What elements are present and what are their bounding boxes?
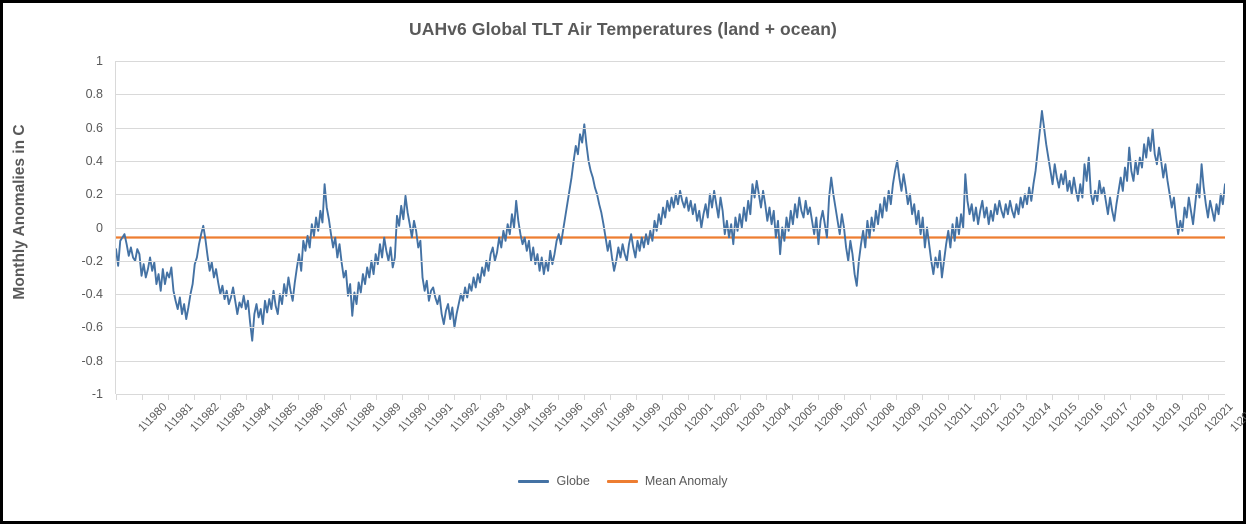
legend-label: Mean Anomaly bbox=[645, 474, 728, 488]
x-axis-tick-label: 1\1999 bbox=[630, 401, 663, 434]
x-axis-tick-label: 1\1980 bbox=[136, 401, 169, 434]
x-axis-tick-label: 1\1996 bbox=[552, 401, 585, 434]
x-axis-tick-label: 1\1994 bbox=[500, 401, 533, 434]
x-axis-tick-label: 1\2017 bbox=[1098, 401, 1131, 434]
x-axis-tick-label: 1\2015 bbox=[1046, 401, 1079, 434]
x-axis-tick-label: 1\1988 bbox=[344, 401, 377, 434]
legend-swatch bbox=[518, 480, 549, 483]
legend-swatch bbox=[607, 480, 638, 483]
x-axis-tick-label: 1\2016 bbox=[1072, 401, 1105, 434]
x-axis-tick-label: 1\1982 bbox=[188, 401, 221, 434]
x-axis-tick-label: 1\2006 bbox=[812, 401, 845, 434]
x-axis-tick-label: 1\2010 bbox=[916, 401, 949, 434]
x-axis-tick-label: 1\1995 bbox=[526, 401, 559, 434]
x-axis-tick-label: 1\1984 bbox=[240, 401, 273, 434]
x-axis-tick-label: 1\2008 bbox=[864, 401, 897, 434]
x-axis-tick-label: 1\1992 bbox=[448, 401, 481, 434]
x-axis-tick-label: 1\1983 bbox=[214, 401, 247, 434]
x-axis-tick-label: 1\1986 bbox=[292, 401, 325, 434]
x-axis-tick-label: 1\2021 bbox=[1202, 401, 1235, 434]
chart-legend: GlobeMean Anomaly bbox=[3, 474, 1243, 488]
x-axis-tick-label: 1\2003 bbox=[734, 401, 767, 434]
x-axis-tick-label: 1\2019 bbox=[1150, 401, 1183, 434]
legend-label: Globe bbox=[556, 474, 589, 488]
x-axis-tick-label: 1\1990 bbox=[396, 401, 429, 434]
x-axis-tick-label: 1\2013 bbox=[994, 401, 1027, 434]
x-axis-tick-label: 1\2018 bbox=[1124, 401, 1157, 434]
x-axis-tick-label: 1\2001 bbox=[682, 401, 715, 434]
x-axis-tick-label: 1\1989 bbox=[370, 401, 403, 434]
x-axis-tick-label: 1\2009 bbox=[890, 401, 923, 434]
x-axis-tick-label: 1\2004 bbox=[760, 401, 793, 434]
x-axis-tick-label: 1\2020 bbox=[1176, 401, 1209, 434]
x-axis-tick-label: 1\1985 bbox=[266, 401, 299, 434]
x-axis-tick-label: 1\1991 bbox=[422, 401, 455, 434]
legend-item[interactable]: Globe bbox=[518, 474, 589, 488]
x-axis-tick-label: 1\1993 bbox=[474, 401, 507, 434]
x-axis-tick-label: 1\2005 bbox=[786, 401, 819, 434]
x-axis-tick-label: 1\2000 bbox=[656, 401, 689, 434]
x-axis-tick-label: 1\1997 bbox=[578, 401, 611, 434]
x-axis-tick-label: 1\2014 bbox=[1020, 401, 1053, 434]
x-axis-tick-label: 1\2002 bbox=[708, 401, 741, 434]
chart-frame: UAHv6 Global TLT Air Temperatures (land … bbox=[0, 0, 1246, 524]
x-axis-tick-label: 1\1981 bbox=[162, 401, 195, 434]
x-axis-tick-label: 1\2007 bbox=[838, 401, 871, 434]
x-axis-tick-label: 1\1987 bbox=[318, 401, 351, 434]
x-axis-tick-labels: 1\19801\19811\19821\19831\19841\19851\19… bbox=[3, 3, 1246, 527]
legend-item[interactable]: Mean Anomaly bbox=[607, 474, 728, 488]
x-axis-tick-label: 1\1998 bbox=[604, 401, 637, 434]
x-axis-tick-label: 1\2012 bbox=[968, 401, 1001, 434]
